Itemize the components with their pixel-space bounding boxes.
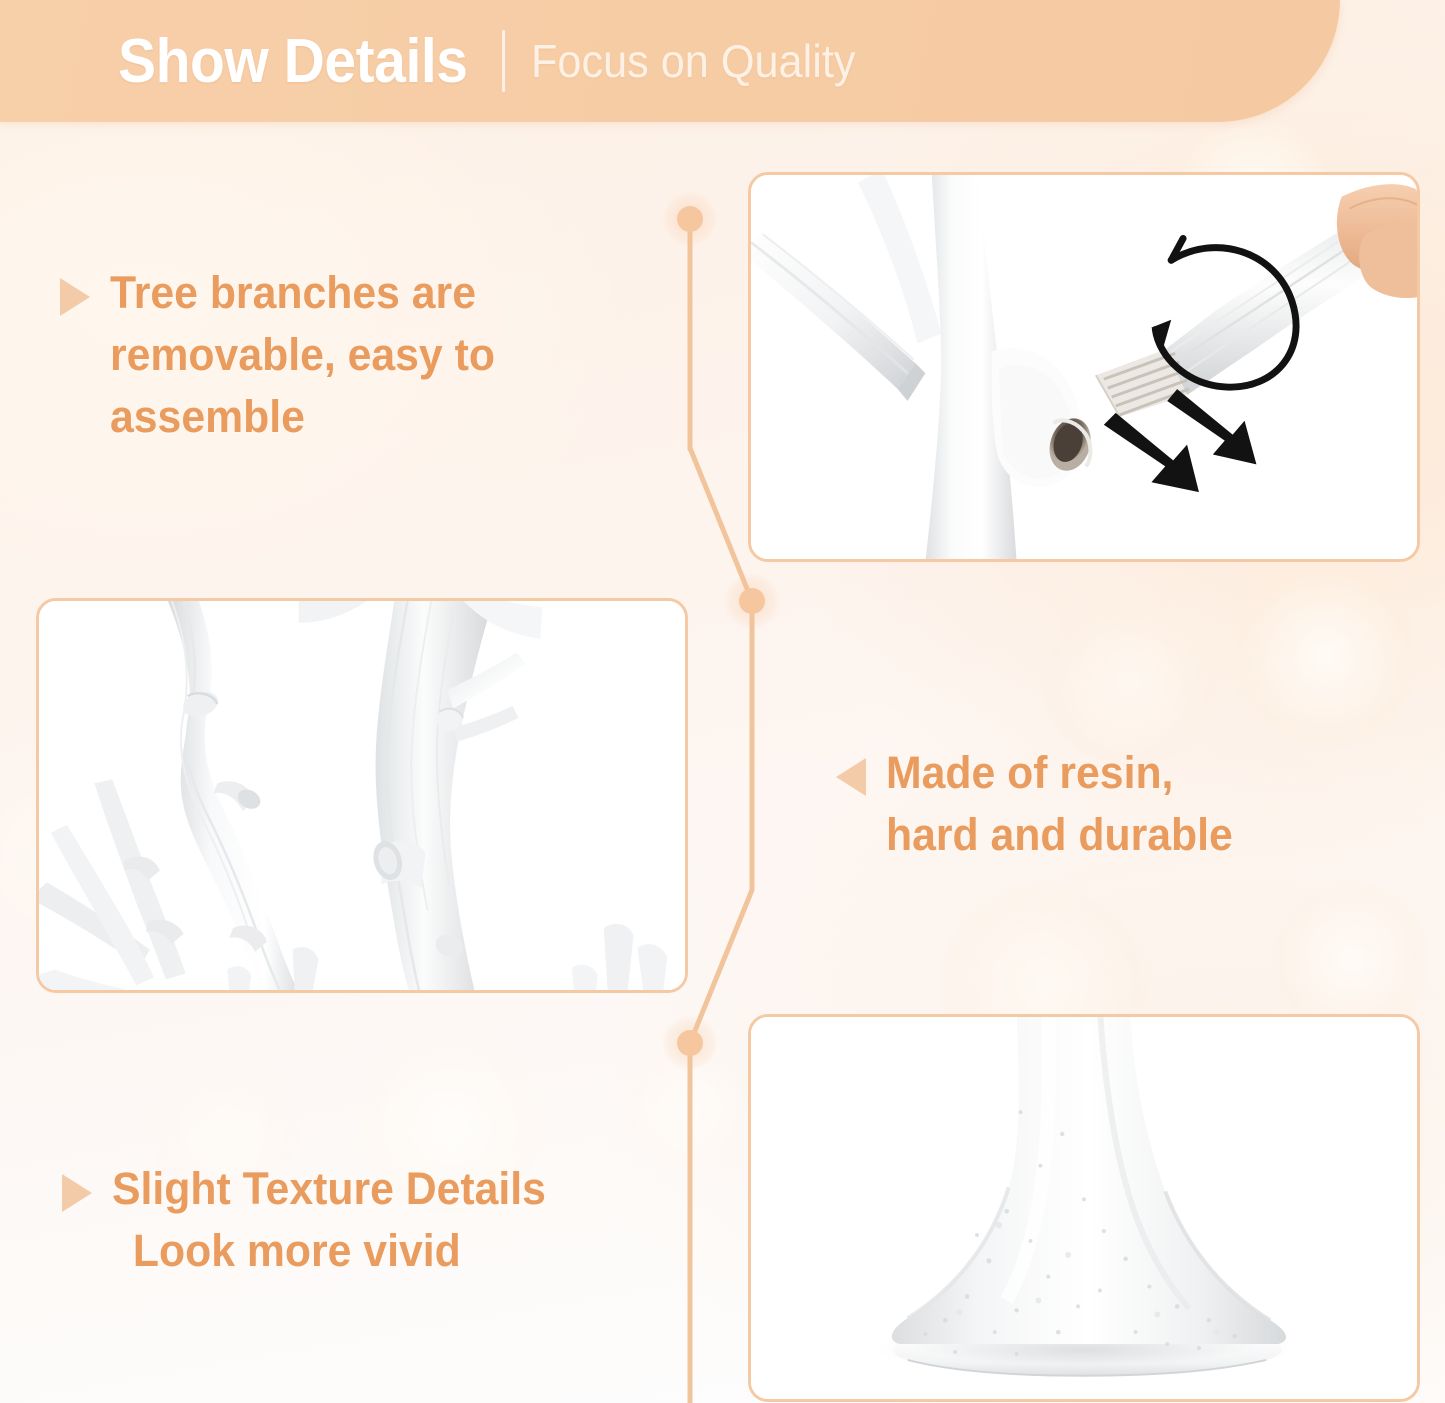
feature-branches-removable: Tree branches are removable, easy to ass… (60, 262, 660, 448)
feature-line: hard and durable (886, 804, 1233, 866)
page-title: Show Details (118, 26, 467, 97)
header-banner: Show Details Focus on Quality (0, 0, 1340, 122)
feature-line: removable, easy to (110, 324, 495, 386)
feature-texture-details: Slight Texture Details Look more vivid (62, 1158, 702, 1282)
feature-texture-details-text: Slight Texture Details Look more vivid (112, 1158, 546, 1282)
feature-line: Slight Texture Details (112, 1158, 546, 1220)
connector-node-middle (739, 588, 765, 614)
feature-made-of-resin-text: Made of resin, hard and durable (886, 742, 1233, 866)
branch-texture-illustration (39, 601, 685, 992)
feature-line: assemble (110, 386, 495, 448)
connector-node-top (677, 206, 703, 232)
feature-branches-removable-text: Tree branches are removable, easy to ass… (110, 262, 495, 448)
connector-node-bottom (677, 1030, 703, 1056)
triangle-right-icon (62, 1174, 92, 1212)
branch-screw-illustration (751, 175, 1417, 562)
feature-line: Look more vivid (112, 1220, 546, 1282)
panel-base-detail (748, 1014, 1420, 1402)
panel-branch-texture-detail (36, 598, 688, 993)
infographic-page: Show Details Focus on Quality (0, 0, 1445, 1403)
feature-line: Tree branches are (110, 262, 495, 324)
page-subtitle: Focus on Quality (531, 34, 855, 88)
panel-branch-screw-detail (748, 172, 1420, 562)
title-separator (502, 30, 505, 92)
triangle-right-icon (60, 278, 90, 316)
tree-base-illustration (751, 1017, 1417, 1402)
feature-line: Made of resin, (886, 742, 1233, 804)
feature-made-of-resin: Made of resin, hard and durable (836, 742, 1396, 866)
triangle-left-icon (836, 758, 866, 796)
